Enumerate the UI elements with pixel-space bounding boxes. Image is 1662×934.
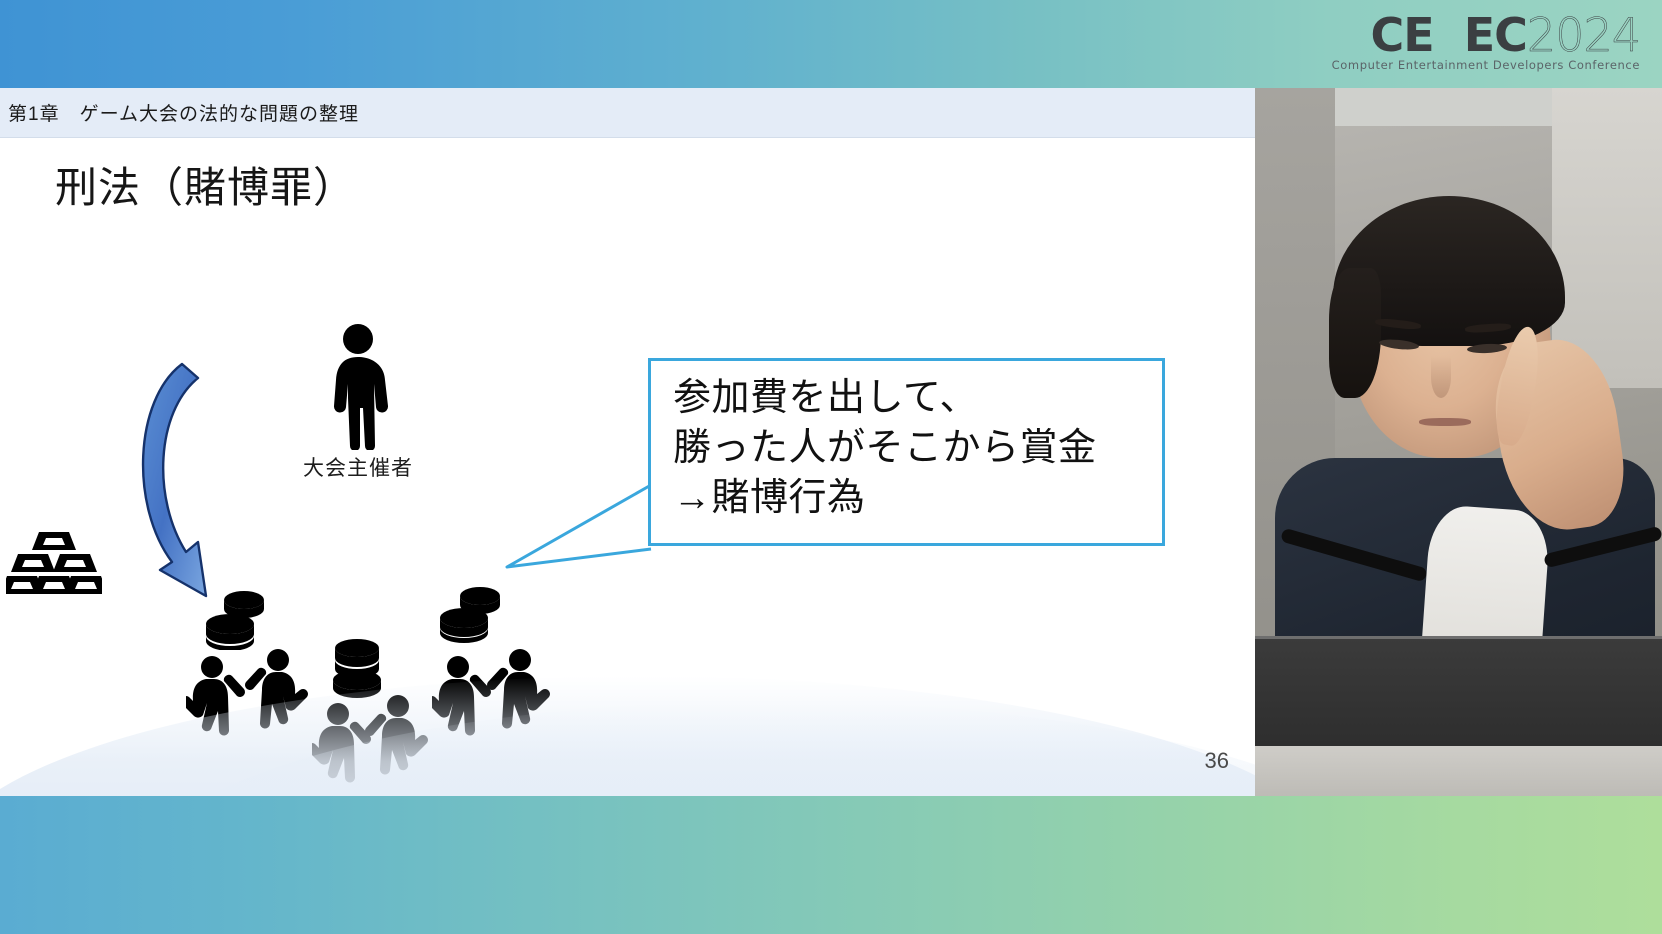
slide-title: 刑法（賭博罪） [55,154,356,215]
speaker-nose [1431,356,1451,398]
cedec-logo-x-icon: X [1434,10,1464,60]
bottom-gradient-banner [0,796,1662,934]
presentation-slide: 第1章 ゲーム大会の法的な問題の整理 刑法（賭博罪） [0,88,1255,796]
cedec-logo-year: 2024 [1527,8,1640,62]
standing-person-icon [325,324,391,450]
organizer-label: 大会主催者 [260,452,456,482]
speaker-mouth [1419,418,1471,426]
laptop-base [1255,746,1662,796]
cedec-logo-wordmark: CEXEC2024 [1320,10,1640,60]
callout-text: 参加費を出して、 勝った人がそこから賞金 →賭博行為 [673,373,1097,523]
slide-page-number: 36 [1205,748,1229,774]
speaker-video-feed [1255,88,1662,796]
laptop-screen [1255,636,1662,746]
cedec-logo-ec: EC [1464,8,1527,62]
callout-box: 参加費を出して、 勝った人がそこから賞金 →賭博行為 [648,358,1165,546]
screenshot-root: CEXEC2024 Computer Entertainment Develop… [0,0,1662,934]
coin-stack-icon [204,588,268,650]
coin-stack-icon [438,586,504,644]
slide-chapter-header: 第1章 ゲーム大会の法的な問題の整理 [0,88,1255,138]
cedec-logo: CEXEC2024 Computer Entertainment Develop… [1320,10,1640,72]
speaker-hair-side [1329,268,1381,398]
callout-pointer [505,483,655,573]
curved-blue-arrow-icon [120,356,250,606]
slide-chapter-title: 第1章 ゲーム大会の法的な問題の整理 [8,99,359,126]
gold-bars-icon [6,528,102,598]
cedec-logo-ce: CE [1371,8,1434,62]
top-gradient-banner: CEXEC2024 Computer Entertainment Develop… [0,0,1662,88]
cedec-logo-subtitle: Computer Entertainment Developers Confer… [1320,58,1640,72]
